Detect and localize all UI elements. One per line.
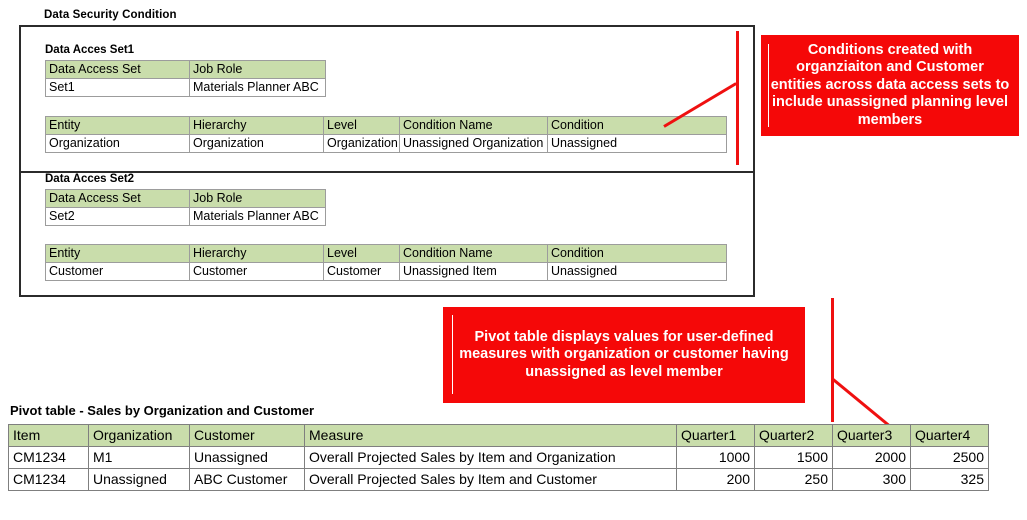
table-row: Organization Organization Organization U…: [46, 135, 727, 153]
col-customer: Customer: [190, 425, 305, 447]
cell-data-access-set: Set2: [46, 208, 190, 226]
cell-customer: ABC Customer: [190, 469, 305, 491]
cell-entity: Customer: [46, 263, 190, 281]
col-entity: Entity: [46, 245, 190, 263]
col-data-access-set: Data Access Set: [46, 61, 190, 79]
callout-left-rule: [768, 44, 769, 127]
cell-job-role: Materials Planner ABC: [190, 79, 326, 97]
col-condition-name: Condition Name: [400, 117, 548, 135]
cell-quarter4: 2500: [911, 447, 989, 469]
cell-condition: Unassigned: [548, 135, 727, 153]
col-hierarchy: Hierarchy: [190, 117, 324, 135]
cell-condition: Unassigned: [548, 263, 727, 281]
cell-organization: M1: [89, 447, 190, 469]
cell-quarter4: 325: [911, 469, 989, 491]
cell-quarter1: 1000: [677, 447, 755, 469]
cell-condition-name: Unassigned Item: [400, 263, 548, 281]
cell-job-role: Materials Planner ABC: [190, 208, 326, 226]
col-condition: Condition: [548, 245, 727, 263]
col-measure: Measure: [305, 425, 677, 447]
table-header-row: Data Access Set Job Role: [46, 61, 326, 79]
col-job-role: Job Role: [190, 190, 326, 208]
table-row: Set2 Materials Planner ABC: [46, 208, 326, 226]
pivot-callout: Pivot table displays values for user-def…: [443, 307, 805, 403]
cell-quarter2: 250: [755, 469, 833, 491]
col-level: Level: [324, 117, 400, 135]
col-quarter2: Quarter2: [755, 425, 833, 447]
col-quarter3: Quarter3: [833, 425, 911, 447]
table-row: Customer Customer Customer Unassigned It…: [46, 263, 727, 281]
table-row: CM1234 Unassigned ABC Customer Overall P…: [9, 469, 989, 491]
col-data-access-set: Data Access Set: [46, 190, 190, 208]
col-level: Level: [324, 245, 400, 263]
cell-measure: Overall Projected Sales by Item and Cust…: [305, 469, 677, 491]
col-hierarchy: Hierarchy: [190, 245, 324, 263]
cell-quarter3: 300: [833, 469, 911, 491]
group-title-set1: Data Acces Set1: [45, 44, 134, 56]
col-condition: Condition: [548, 117, 727, 135]
screenshot-canvas: Data Security Condition Data Acces Set1 …: [0, 0, 1027, 520]
cell-level: Organization: [324, 135, 400, 153]
col-job-role: Job Role: [190, 61, 326, 79]
pivot-callout-text: Pivot table displays values for user-def…: [443, 329, 805, 382]
group-title-set2: Data Acces Set2: [45, 173, 134, 185]
callout-connector-vertical-1: [736, 31, 739, 165]
callout-left-rule: [452, 315, 453, 394]
table-row: Set1 Materials Planner ABC: [46, 79, 326, 97]
col-item: Item: [9, 425, 89, 447]
col-quarter4: Quarter4: [911, 425, 989, 447]
cell-item: CM1234: [9, 447, 89, 469]
col-organization: Organization: [89, 425, 190, 447]
table-row: CM1234 M1 Unassigned Overall Projected S…: [9, 447, 989, 469]
table-header-row: Entity Hierarchy Level Condition Name Co…: [46, 245, 727, 263]
page-title: Data Security Condition: [44, 9, 177, 21]
cell-level: Customer: [324, 263, 400, 281]
callout-connector-vertical-2: [831, 298, 834, 422]
cell-measure: Overall Projected Sales by Item and Orga…: [305, 447, 677, 469]
cell-hierarchy: Organization: [190, 135, 324, 153]
cell-entity: Organization: [46, 135, 190, 153]
col-condition-name: Condition Name: [400, 245, 548, 263]
pivot-table: Item Organization Customer Measure Quart…: [8, 424, 989, 491]
cell-quarter3: 2000: [833, 447, 911, 469]
cell-customer: Unassigned: [190, 447, 305, 469]
data-security-condition-panel: Data Acces Set1 Data Access Set Job Role…: [19, 25, 755, 297]
cell-data-access-set: Set1: [46, 79, 190, 97]
conditions-callout-text: Conditions created with organziaiton and…: [761, 42, 1019, 130]
conditions-callout: Conditions created with organziaiton and…: [761, 35, 1019, 136]
table-header-row: Item Organization Customer Measure Quart…: [9, 425, 989, 447]
cell-organization: Unassigned: [89, 469, 190, 491]
col-quarter1: Quarter1: [677, 425, 755, 447]
cell-quarter2: 1500: [755, 447, 833, 469]
access-set-table-2: Data Access Set Job Role Set2 Materials …: [45, 189, 326, 226]
table-header-row: Entity Hierarchy Level Condition Name Co…: [46, 117, 727, 135]
condition-table-1: Entity Hierarchy Level Condition Name Co…: [45, 116, 727, 153]
cell-item: CM1234: [9, 469, 89, 491]
col-entity: Entity: [46, 117, 190, 135]
table-header-row: Data Access Set Job Role: [46, 190, 326, 208]
cell-quarter1: 200: [677, 469, 755, 491]
pivot-table-title: Pivot table - Sales by Organization and …: [10, 403, 314, 418]
condition-table-2: Entity Hierarchy Level Condition Name Co…: [45, 244, 727, 281]
access-set-table-1: Data Access Set Job Role Set1 Materials …: [45, 60, 326, 97]
cell-hierarchy: Customer: [190, 263, 324, 281]
cell-condition-name: Unassigned Organization: [400, 135, 548, 153]
